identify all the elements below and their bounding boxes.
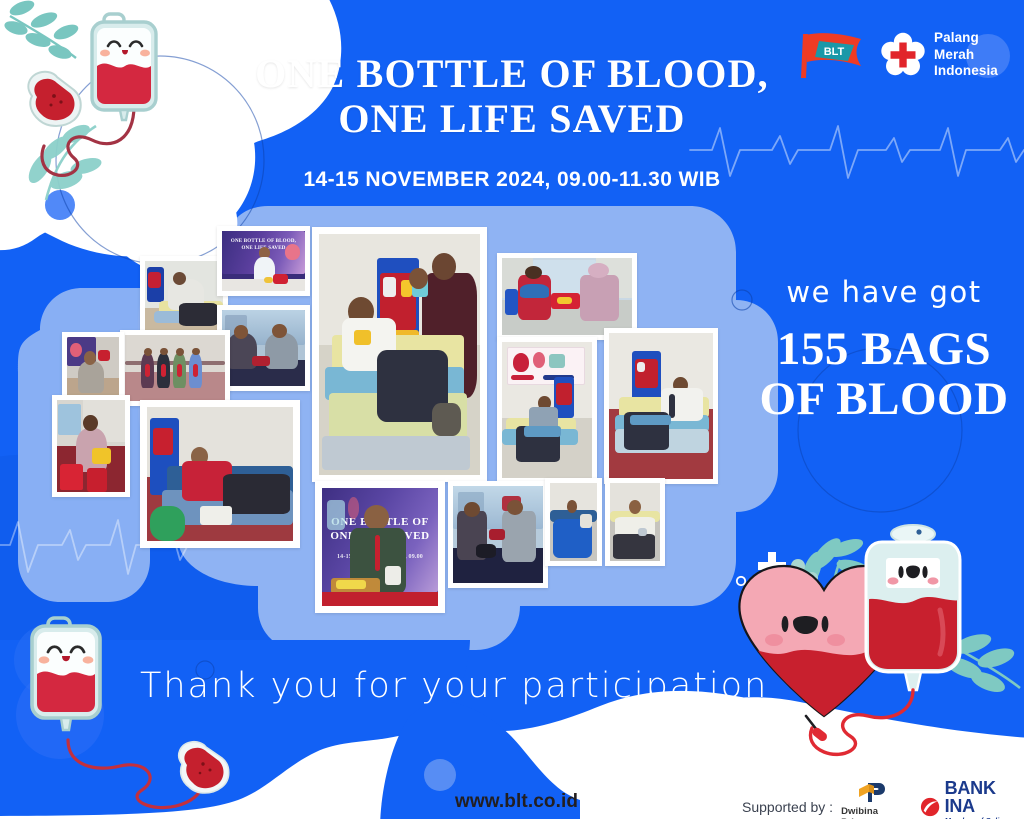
collage-photo bbox=[497, 253, 637, 340]
website-url[interactable]: www.blt.co.id bbox=[455, 791, 578, 813]
collage-photo: ONE BOTTLE OFONE LIFE SAVED 14-15 NOVEMB… bbox=[315, 481, 445, 613]
stat-value-line-1: 155 BAGS bbox=[744, 325, 1024, 375]
event-date: 14-15 NOVEMBER 2024, 09.00-11.30 WIB bbox=[0, 168, 1024, 192]
sponsor-name: BANK INA bbox=[945, 779, 1024, 815]
supported-by-label: Supported by : bbox=[742, 799, 833, 815]
poster-canvas: ONE BOTTLE OF BLOOD,ONE LIFE SAVED bbox=[0, 0, 1024, 819]
collage-photo bbox=[120, 330, 230, 406]
stat-block: we have got 155 BAGS OF BLOOD bbox=[744, 278, 1024, 425]
stat-value-line-2: OF BLOOD bbox=[744, 375, 1024, 425]
pmi-flower-cross-icon bbox=[879, 31, 927, 79]
supported-by-row: Supported by : Dwibina Prima CONTRACTOR … bbox=[742, 779, 1024, 819]
logo-group: BLT Palang Merah Indonesia bbox=[795, 30, 998, 80]
pmi-logo-text: Palang Merah Indonesia bbox=[934, 30, 998, 79]
dwibina-prima-mark-icon bbox=[857, 781, 887, 805]
collage-photo bbox=[497, 337, 597, 483]
stat-value: 155 BAGS OF BLOOD bbox=[744, 325, 1024, 425]
collage-photo-main bbox=[312, 227, 487, 482]
sponsor-dwibina-prima: Dwibina Prima CONTRACTOR & DEVELOPER bbox=[841, 781, 902, 819]
collage-photo bbox=[140, 400, 300, 548]
collage-photo bbox=[448, 481, 548, 588]
collage-photo bbox=[604, 328, 718, 484]
blt-flag-icon: BLT bbox=[795, 30, 867, 80]
collage-photo bbox=[545, 478, 602, 566]
pmi-line-1: Palang bbox=[934, 30, 998, 46]
blt-logo: BLT bbox=[795, 30, 867, 80]
stat-kicker: we have got bbox=[744, 278, 1024, 307]
collage-photo: ONE BOTTLE OF BLOOD,ONE LIFE SAVED bbox=[217, 226, 310, 296]
sponsor-name: Dwibina Prima bbox=[841, 806, 902, 819]
pmi-logo: Palang Merah Indonesia bbox=[879, 30, 998, 79]
collage-photo bbox=[605, 478, 665, 566]
sponsor-bank-ina: BANK INA Member of Salim Group bbox=[920, 779, 1024, 819]
pmi-line-2: Merah bbox=[934, 47, 998, 63]
bank-ina-mark-icon bbox=[920, 796, 940, 818]
collage-photo bbox=[217, 305, 310, 391]
collage-photo bbox=[52, 395, 130, 497]
thank-you-text: Thank you for your participation bbox=[140, 666, 768, 706]
pmi-line-3: Indonesia bbox=[934, 63, 998, 79]
blt-logo-text: BLT bbox=[824, 46, 845, 58]
